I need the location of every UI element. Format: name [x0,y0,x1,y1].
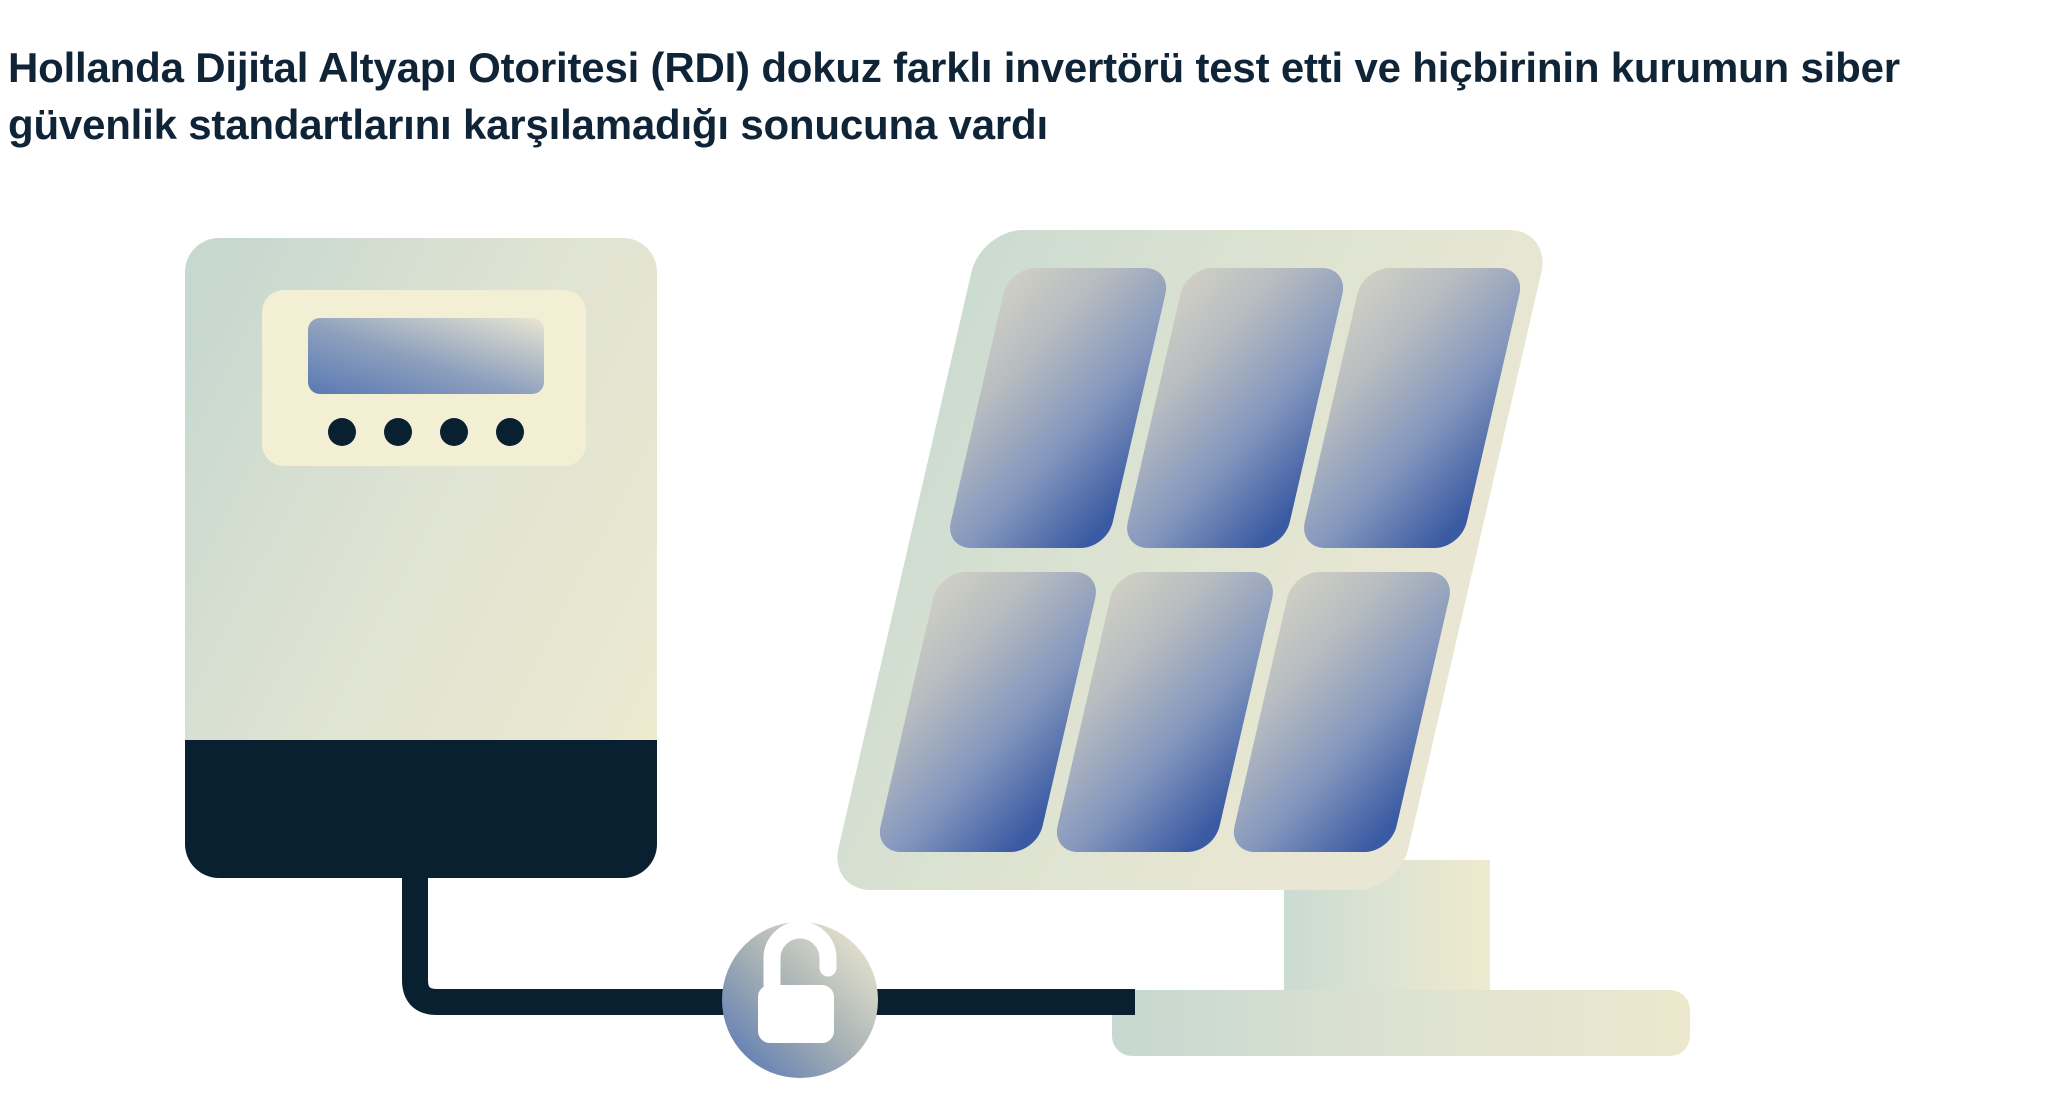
inverter-indicator-light [440,418,468,446]
solar-panel-base-bar [1112,990,1690,1056]
inverter-indicator-light [328,418,356,446]
unlocked-padlock-badge [722,922,878,1078]
inverter-unit [185,238,657,880]
inverter-indicator-light [496,418,524,446]
solar-panel-group [829,230,1551,890]
unlock-icon-body [758,985,834,1043]
inverter-dark-base [185,740,657,880]
illustration-solar-inverter [0,0,2048,1109]
inverter-screen [308,318,544,394]
inverter-indicator-light [384,418,412,446]
